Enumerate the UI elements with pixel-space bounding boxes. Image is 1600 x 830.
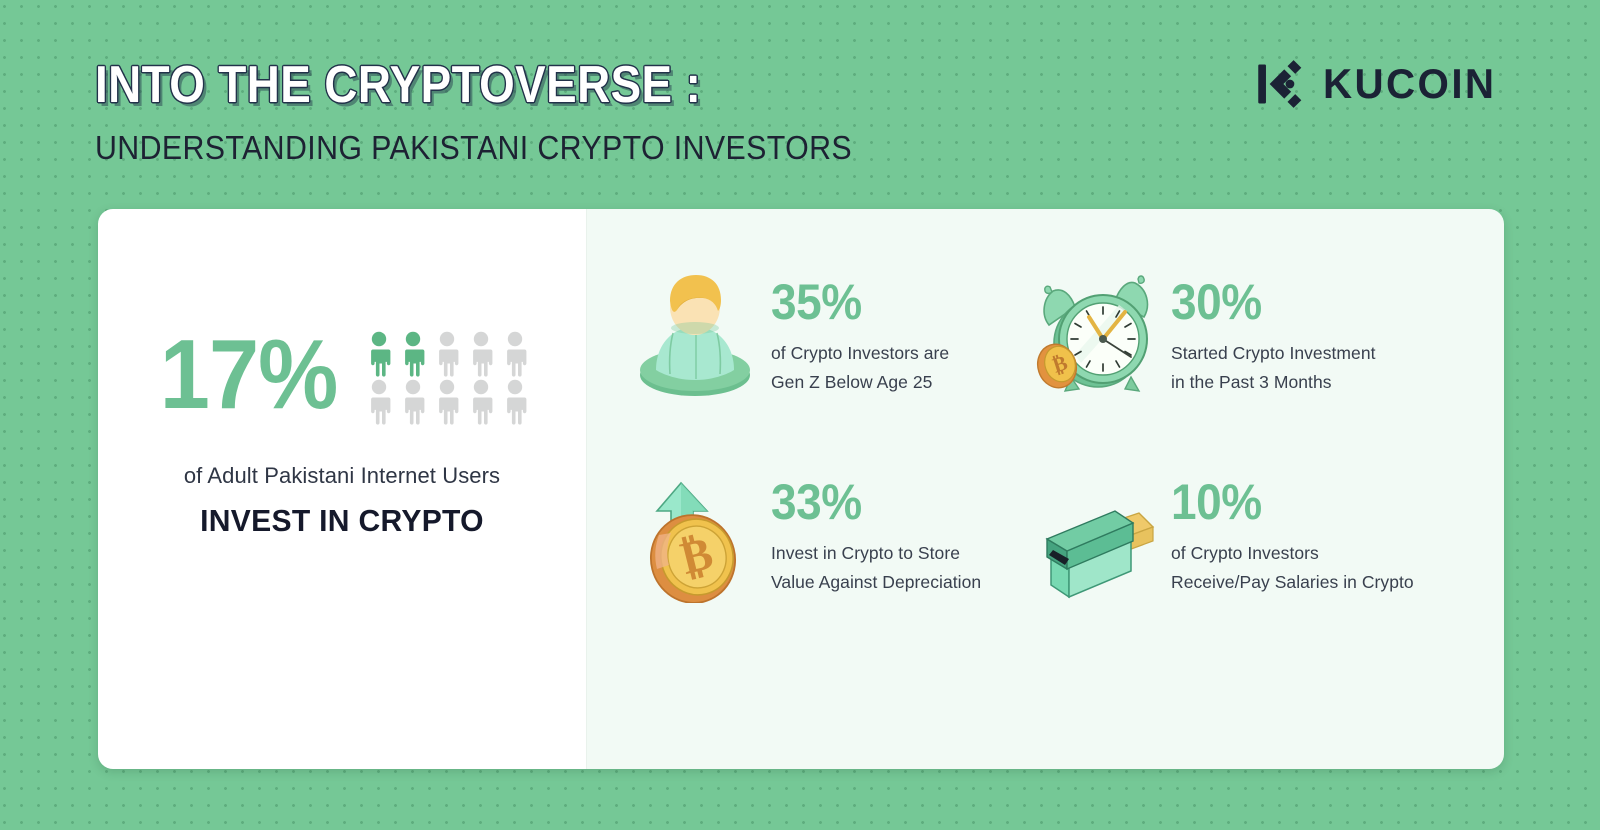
stat-percent: 33% — [771, 477, 964, 527]
headline-percent: 17% — [160, 328, 338, 421]
person-icon — [362, 329, 396, 377]
alarm-clock-icon: ₿ — [1035, 271, 1155, 403]
stat-percent: 30% — [1171, 277, 1359, 327]
person-icon — [498, 329, 532, 377]
people-pictogram — [362, 329, 532, 425]
person-icon — [464, 377, 498, 425]
person-icon — [498, 377, 532, 425]
person-icon — [464, 329, 498, 377]
stat-salary-in-crypto: ₿ 10% — [1035, 471, 1495, 671]
person-avatar-icon — [635, 271, 755, 403]
headline-caption-line1: of Adult Pakistani Internet Users — [124, 463, 560, 489]
infographic-root: INTO THE CRYPTOVERSE : UNDERSTANDING PAK… — [0, 0, 1600, 830]
stat-description: Started Crypto Investment in the Past 3 … — [1171, 339, 1376, 397]
stats-panel: 35% of Crypto Investors are Gen Z Below … — [587, 209, 1504, 769]
person-icon — [362, 377, 396, 425]
headline-caption-line2: INVEST IN CRYPTO — [131, 503, 554, 539]
stat-percent: 10% — [1171, 477, 1394, 527]
stat-description: Invest in Crypto to Store Value Against … — [771, 539, 981, 597]
headline-stat-row: 17% — [124, 325, 560, 425]
stats-grid: 35% of Crypto Investors are Gen Z Below … — [635, 271, 1504, 671]
stat-gen-z-share: 35% of Crypto Investors are Gen Z Below … — [635, 271, 1035, 471]
brand-logo: KUCOIN — [1255, 58, 1504, 110]
stat-store-of-value: ₿ 33% Invest in Crypto to Store Value Ag… — [635, 471, 1035, 671]
person-icon — [396, 377, 430, 425]
person-icon — [430, 377, 464, 425]
content-card: 17% — [98, 209, 1504, 769]
page-title: INTO THE CRYPTOVERSE : — [95, 58, 1345, 113]
money-wallet-icon: ₿ — [1035, 471, 1155, 603]
bitcoin-coin-arrow-icon: ₿ — [635, 471, 755, 603]
stat-recent-starters: ₿ 30% Started Crypto Investment in the P… — [1035, 271, 1495, 471]
person-icon — [430, 329, 464, 377]
person-icon — [396, 329, 430, 377]
page-subtitle: UNDERSTANDING PAKISTANI CRYPTO INVESTORS — [95, 129, 1401, 167]
stat-description: of Crypto Investors are Gen Z Below Age … — [771, 339, 949, 397]
stat-description: of Crypto Investors Receive/Pay Salaries… — [1171, 539, 1414, 597]
headline-stat-panel: 17% — [98, 209, 587, 769]
stat-percent: 35% — [771, 277, 935, 327]
brand-name: KUCOIN — [1323, 60, 1496, 108]
kucoin-k-logo-icon — [1255, 58, 1307, 110]
